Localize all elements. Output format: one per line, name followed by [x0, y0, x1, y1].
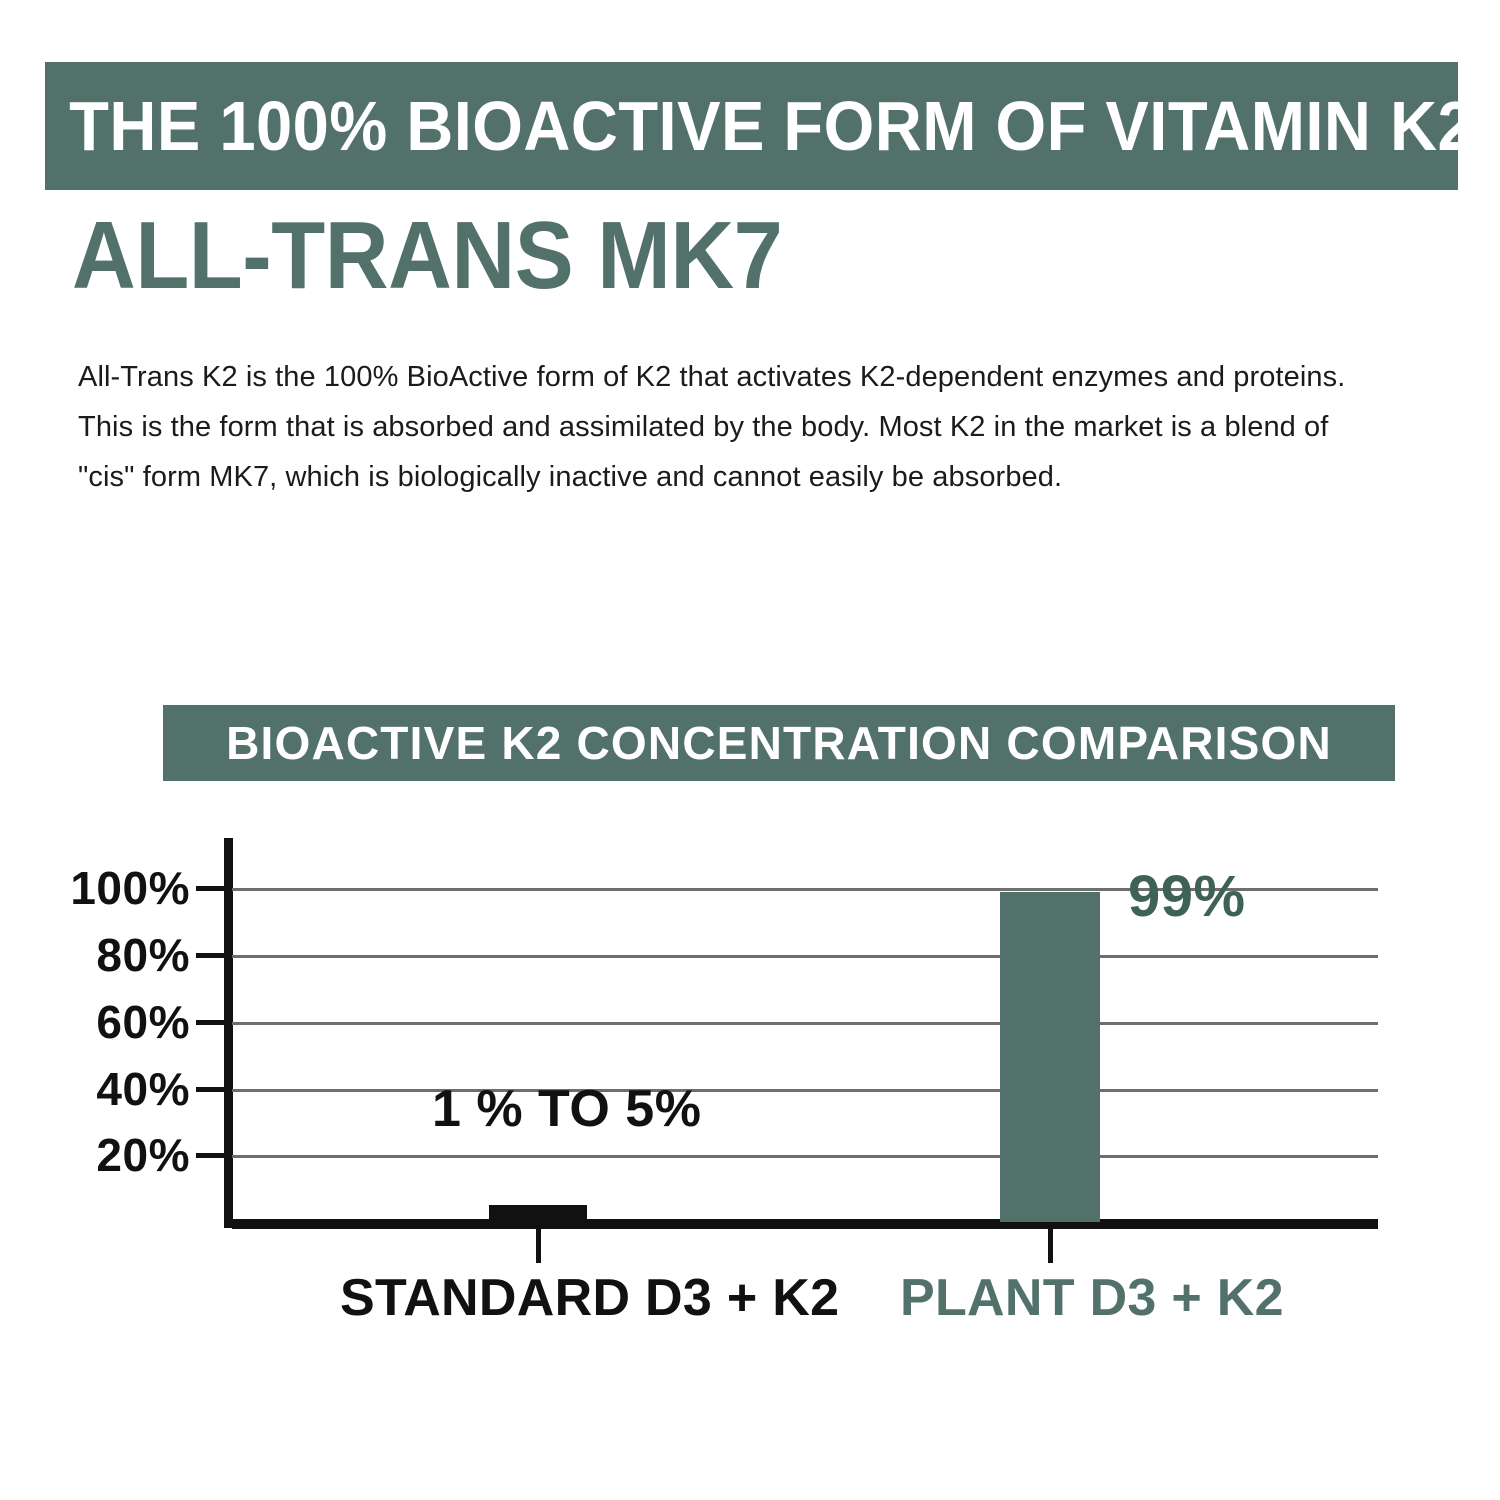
- chart-title-banner: BIOACTIVE K2 CONCENTRATION COMPARISON: [163, 705, 1395, 781]
- y-tick-label: 60%: [20, 999, 190, 1045]
- x-category-label-plant: PLANT D3 + K2: [900, 1272, 1284, 1324]
- body-paragraph: All-Trans K2 is the 100% BioActive form …: [78, 352, 1388, 502]
- y-tick-mark: [196, 1153, 232, 1158]
- headline-banner: THE 100% BIOACTIVE FORM OF VITAMIN K2: [45, 62, 1458, 190]
- gridline: [232, 1022, 1378, 1025]
- page-subtitle: ALL-TRANS MK7: [72, 208, 782, 304]
- gridline: [232, 1089, 1378, 1092]
- y-tick-mark: [196, 1087, 232, 1092]
- x-category-label-standard: STANDARD D3 + K2: [340, 1272, 839, 1324]
- chart-title: BIOACTIVE K2 CONCENTRATION COMPARISON: [226, 720, 1332, 766]
- gridline: [232, 955, 1378, 958]
- y-tick-label: 80%: [20, 932, 190, 978]
- gridline: [232, 1155, 1378, 1158]
- x-tick-mark: [1048, 1229, 1053, 1263]
- y-tick-mark: [196, 886, 232, 891]
- y-tick-label: 100%: [20, 865, 190, 911]
- x-tick-mark: [536, 1229, 541, 1263]
- bar-value-label-standard: 1 % TO 5%: [432, 1083, 701, 1135]
- y-tick-mark: [196, 953, 232, 958]
- bar-plant[interactable]: [1000, 892, 1100, 1222]
- y-tick-label: 40%: [20, 1066, 190, 1112]
- headline-banner-title: THE 100% BIOACTIVE FORM OF VITAMIN K2: [45, 91, 1474, 161]
- subtitle-block: ALL-TRANS MK7: [72, 196, 972, 316]
- y-tick-mark: [196, 1020, 232, 1025]
- y-tick-label: 20%: [20, 1132, 190, 1178]
- bar-standard[interactable]: [489, 1205, 587, 1222]
- bar-value-label-plant: 99%: [1128, 868, 1246, 926]
